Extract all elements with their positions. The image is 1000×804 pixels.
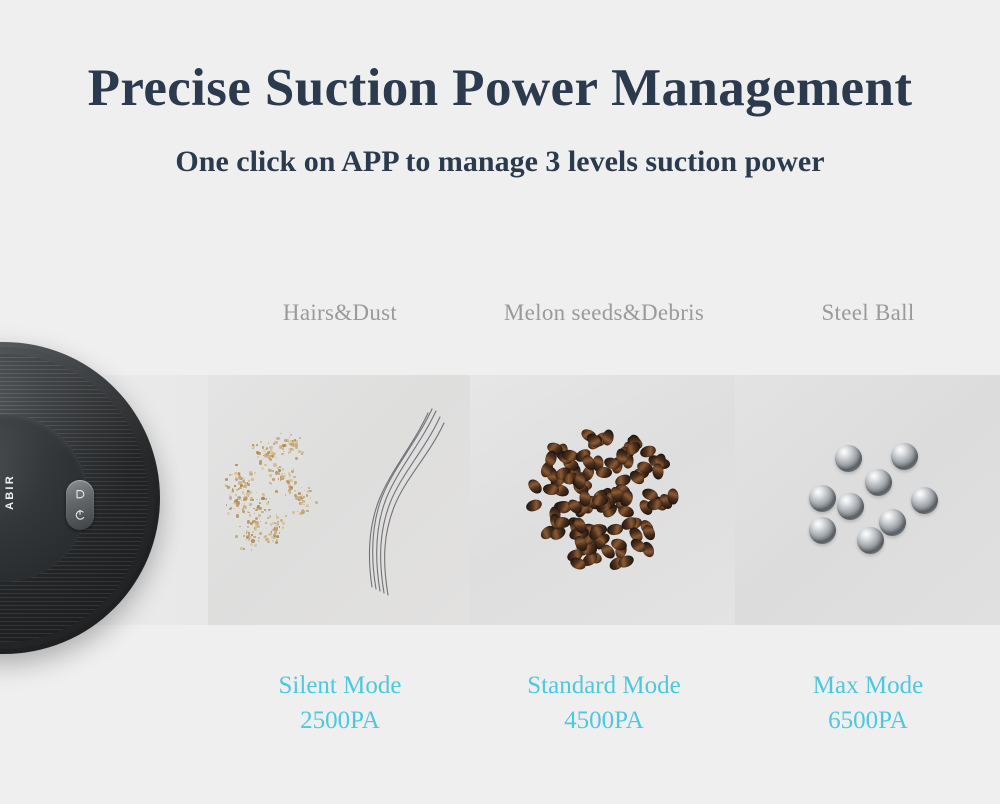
melon-seeds-sample	[520, 417, 685, 582]
heading-block: Precise Suction Power Management One cli…	[0, 0, 1000, 177]
steel-ball	[835, 445, 862, 472]
vacuum-brand-label: ABIR	[4, 474, 16, 510]
sample-panel-hairs-dust	[208, 375, 470, 625]
vacuum-button-panel[interactable]	[66, 480, 94, 530]
mode-captions: Silent Mode 2500PA Standard Mode 4500PA …	[208, 672, 1000, 736]
mode-power-silent: 2500PA	[208, 705, 472, 736]
column-header-melon-seeds: Melon seeds&Debris	[472, 300, 736, 326]
column-header-hairs-dust: Hairs&Dust	[208, 300, 472, 326]
steel-ball	[809, 517, 836, 544]
mode-power-standard: 4500PA	[472, 705, 736, 736]
steel-ball	[809, 485, 836, 512]
mode-name-silent: Silent Mode	[208, 672, 472, 700]
sample-panel-melon-seeds	[470, 375, 735, 625]
mode-name-max: Max Mode	[736, 672, 1000, 700]
mode-standard: Standard Mode 4500PA	[472, 672, 736, 736]
page-title: Precise Suction Power Management	[0, 62, 1000, 115]
steel-ball	[837, 493, 864, 520]
mode-power-max: 6500PA	[736, 705, 1000, 736]
steel-ball	[879, 509, 906, 536]
steel-ball	[857, 527, 884, 554]
sample-panel-steel-ball	[735, 375, 1000, 625]
mode-silent: Silent Mode 2500PA	[208, 672, 472, 736]
home-dock-icon[interactable]	[74, 489, 86, 501]
steel-ball	[865, 469, 892, 496]
suction-power-infographic: Precise Suction Power Management One cli…	[0, 0, 1000, 804]
mode-max: Max Mode 6500PA	[736, 672, 1000, 736]
steel-balls-sample	[793, 427, 953, 577]
steel-ball	[911, 487, 938, 514]
dust-and-hair-sample	[220, 415, 340, 585]
column-header-steel-ball: Steel Ball	[736, 300, 1000, 326]
column-headers: Hairs&Dust Melon seeds&Debris Steel Ball	[208, 300, 1000, 326]
mode-name-standard: Standard Mode	[472, 672, 736, 700]
steel-ball	[891, 443, 918, 470]
hair-strands-icon	[358, 403, 448, 598]
page-subtitle: One click on APP to manage 3 levels suct…	[0, 147, 1000, 177]
power-icon[interactable]	[74, 509, 86, 521]
